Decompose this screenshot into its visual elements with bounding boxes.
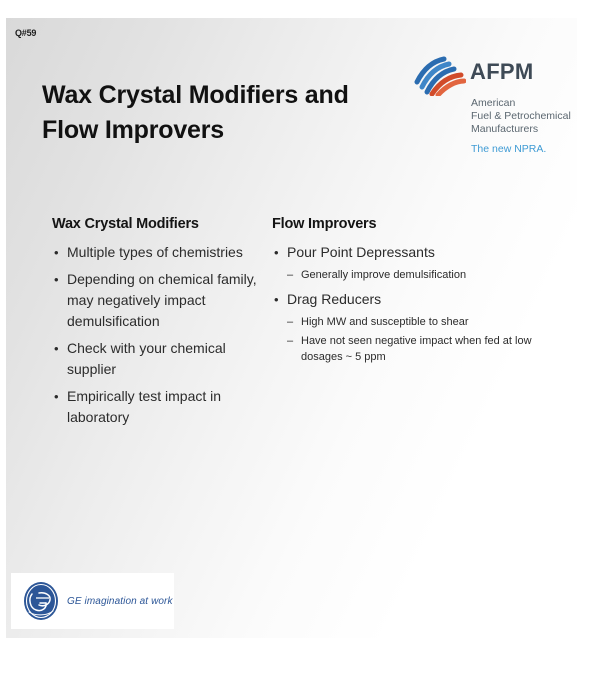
afpm-name-line-1: American xyxy=(471,97,574,110)
list-item-text: Empirically test impact in laboratory xyxy=(67,388,221,425)
presentation-slide: Q#59 Wax Crystal Modifiers and Flow Impr… xyxy=(6,18,577,638)
title-line-1: Wax Crystal Modifiers and xyxy=(42,78,392,113)
list-item-text: Drag Reducers xyxy=(287,291,381,307)
list-item-text: Depending on chemical family, may negati… xyxy=(67,271,257,329)
sub-bullet-list: – Generally improve demulsification xyxy=(287,267,538,283)
list-item-text: Multiple types of chemistries xyxy=(67,244,243,260)
list-item-text: Pour Point Depressants xyxy=(287,244,435,260)
sub-bullet-list: – High MW and susceptible to shear – Hav… xyxy=(287,314,538,365)
dash-glyph-icon: – xyxy=(287,333,293,349)
sub-list-item: – Generally improve demulsification xyxy=(287,267,538,283)
column-wax-crystal-modifiers: Wax Crystal Modifiers • Multiple types o… xyxy=(6,216,268,434)
bullet-list-left: • Multiple types of chemistries • Depend… xyxy=(52,242,268,428)
bullet-glyph-icon: • xyxy=(274,242,279,263)
list-item: • Drag Reducers – High MW and susceptibl… xyxy=(272,289,538,365)
dash-glyph-icon: – xyxy=(287,314,293,330)
list-item: • Multiple types of chemistries xyxy=(52,242,268,263)
sub-list-item-text: High MW and susceptible to shear xyxy=(301,316,469,328)
slide-canvas: Q#59 Wax Crystal Modifiers and Flow Impr… xyxy=(0,0,601,673)
column-heading-right: Flow Improvers xyxy=(272,216,538,232)
sub-list-item-text: Generally improve demulsification xyxy=(301,269,466,281)
bullet-glyph-icon: • xyxy=(274,289,279,310)
column-flow-improvers: Flow Improvers • Pour Point Depressants … xyxy=(268,216,538,434)
afpm-name-line-2: Fuel & Petrochemical xyxy=(471,110,574,123)
list-item: • Pour Point Depressants – Generally imp… xyxy=(272,242,538,283)
list-item: • Check with your chemical supplier xyxy=(52,338,268,380)
ge-tagline: GE imagination at work xyxy=(67,596,173,607)
ge-logo-panel: GE imagination at work xyxy=(11,573,174,629)
list-item-text: Check with your chemical supplier xyxy=(67,340,226,377)
afpm-wordmark: AFPM xyxy=(470,61,534,83)
sub-list-item: – High MW and susceptible to shear xyxy=(287,314,538,330)
bullet-glyph-icon: • xyxy=(54,386,59,407)
sub-list-item-text: Have not seen negative impact when fed a… xyxy=(301,335,532,363)
bullet-glyph-icon: • xyxy=(54,269,59,290)
afpm-logo: AFPM American Fuel & Petrochemical Manuf… xyxy=(414,56,574,155)
afpm-name-line-3: Manufacturers xyxy=(471,123,574,136)
page-title: Wax Crystal Modifiers and Flow Improvers xyxy=(42,78,392,148)
bullet-glyph-icon: • xyxy=(54,242,59,263)
bullet-list-right: • Pour Point Depressants – Generally imp… xyxy=(272,242,538,365)
slide-number-tag: Q#59 xyxy=(15,28,36,38)
list-item: • Depending on chemical family, may nega… xyxy=(52,269,268,332)
slide-content: Wax Crystal Modifiers • Multiple types o… xyxy=(6,216,577,434)
list-item: • Empirically test impact in laboratory xyxy=(52,386,268,428)
afpm-name-block: American Fuel & Petrochemical Manufactur… xyxy=(471,97,574,136)
title-line-2: Flow Improvers xyxy=(42,113,392,148)
column-heading-left: Wax Crystal Modifiers xyxy=(52,216,268,232)
dash-glyph-icon: – xyxy=(287,267,293,283)
afpm-tagline: The new NPRA. xyxy=(471,143,574,155)
afpm-swoosh-icon xyxy=(414,56,466,96)
ge-monogram-icon xyxy=(23,581,59,621)
bullet-glyph-icon: • xyxy=(54,338,59,359)
sub-list-item: – Have not seen negative impact when fed… xyxy=(287,333,538,365)
